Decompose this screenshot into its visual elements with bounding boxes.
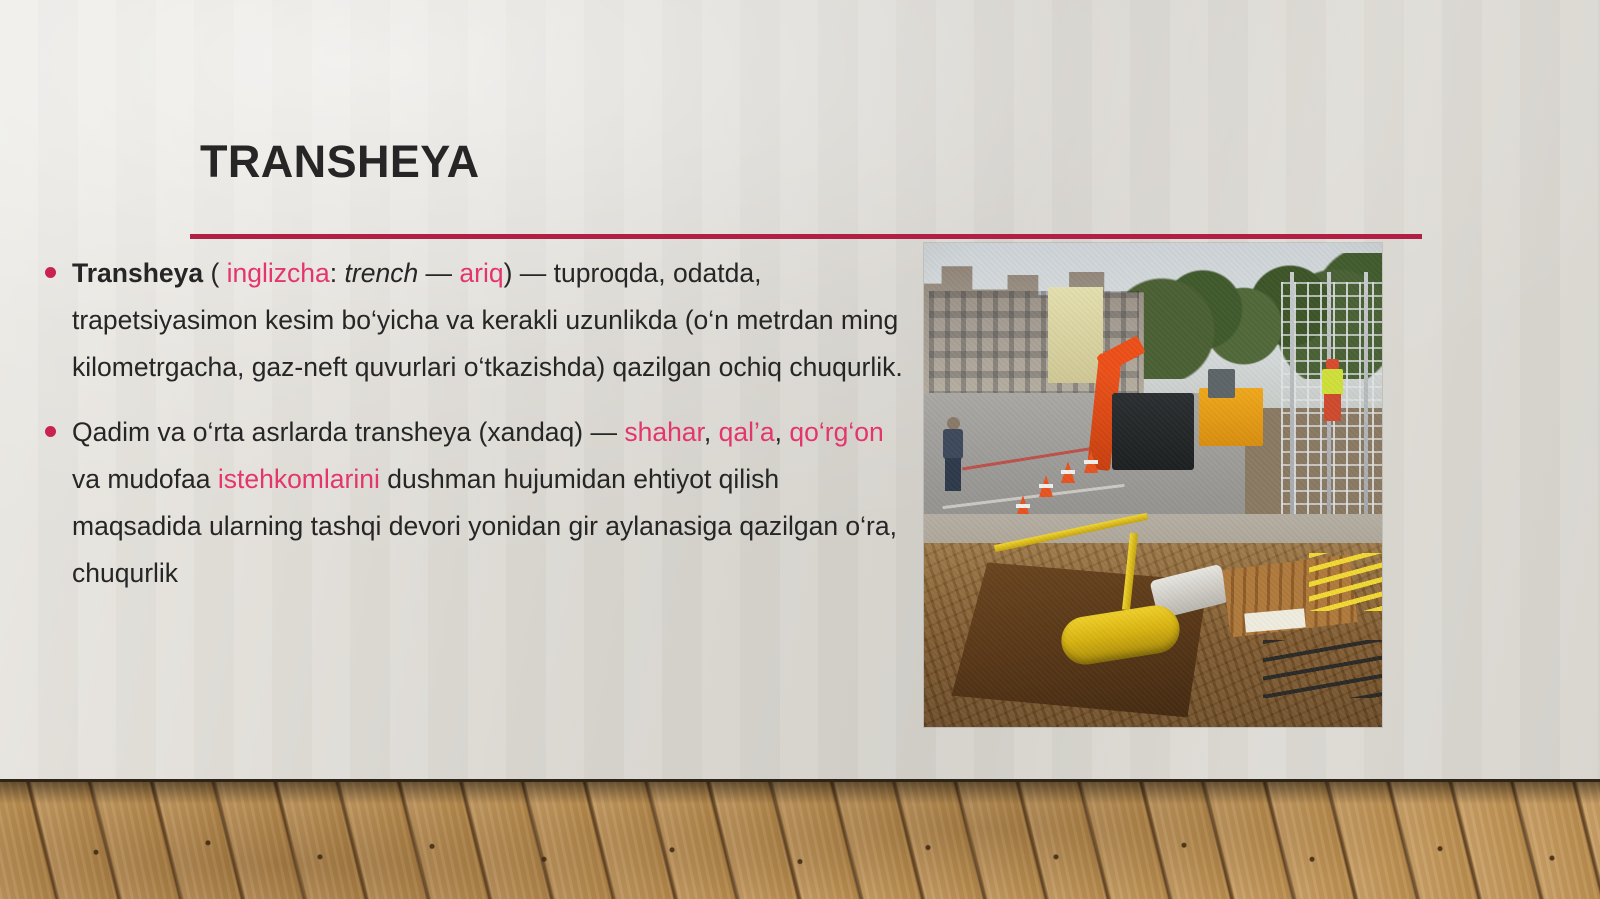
- text-run-highlight: istehkomlarini: [218, 464, 380, 494]
- photo-vignette: [924, 243, 1382, 727]
- accent-divider-rule: [190, 234, 1422, 239]
- bullet-marker-icon: [45, 426, 56, 437]
- presentation-slide: TRANSHEYA Transheya ( inglizcha: trench …: [0, 0, 1600, 899]
- text-run-bold: Transheya: [72, 258, 203, 288]
- bullet-text-2: Qadim va o‘rta asrlarda transheya (xanda…: [72, 409, 908, 597]
- floor-contact-shadow: [0, 782, 1600, 804]
- text-run-highlight: inglizcha: [227, 258, 330, 288]
- text-run-plain: ,: [704, 417, 719, 447]
- trench-photo-illustration: [924, 243, 1382, 727]
- text-run-highlight: qal’a: [719, 417, 775, 447]
- page-title: TRANSHEYA: [200, 138, 480, 185]
- text-run-highlight: qo‘rg‘on: [789, 417, 883, 447]
- text-run-plain: :: [330, 258, 345, 288]
- text-run-highlight: ariq: [459, 258, 503, 288]
- text-run-italic: trench: [345, 258, 419, 288]
- trench-photo: [924, 243, 1382, 727]
- text-run-plain: (: [203, 258, 227, 288]
- slide-body-content: Transheya ( inglizcha: trench — ariq) — …: [40, 250, 908, 615]
- text-run-plain: ,: [775, 417, 790, 447]
- text-run-plain: —: [418, 258, 459, 288]
- bullet-item-1: Transheya ( inglizcha: trench — ariq) — …: [40, 250, 908, 391]
- bullet-item-2: Qadim va o‘rta asrlarda transheya (xanda…: [40, 409, 908, 597]
- text-run-plain: va mudofaa: [72, 464, 218, 494]
- wooden-floor: [0, 779, 1600, 899]
- bullet-text-1: Transheya ( inglizcha: trench — ariq) — …: [72, 250, 908, 391]
- bullet-marker-icon: [45, 267, 56, 278]
- text-run-highlight: shahar: [624, 417, 704, 447]
- text-run-plain: Qadim va o‘rta asrlarda transheya (xanda…: [72, 417, 624, 447]
